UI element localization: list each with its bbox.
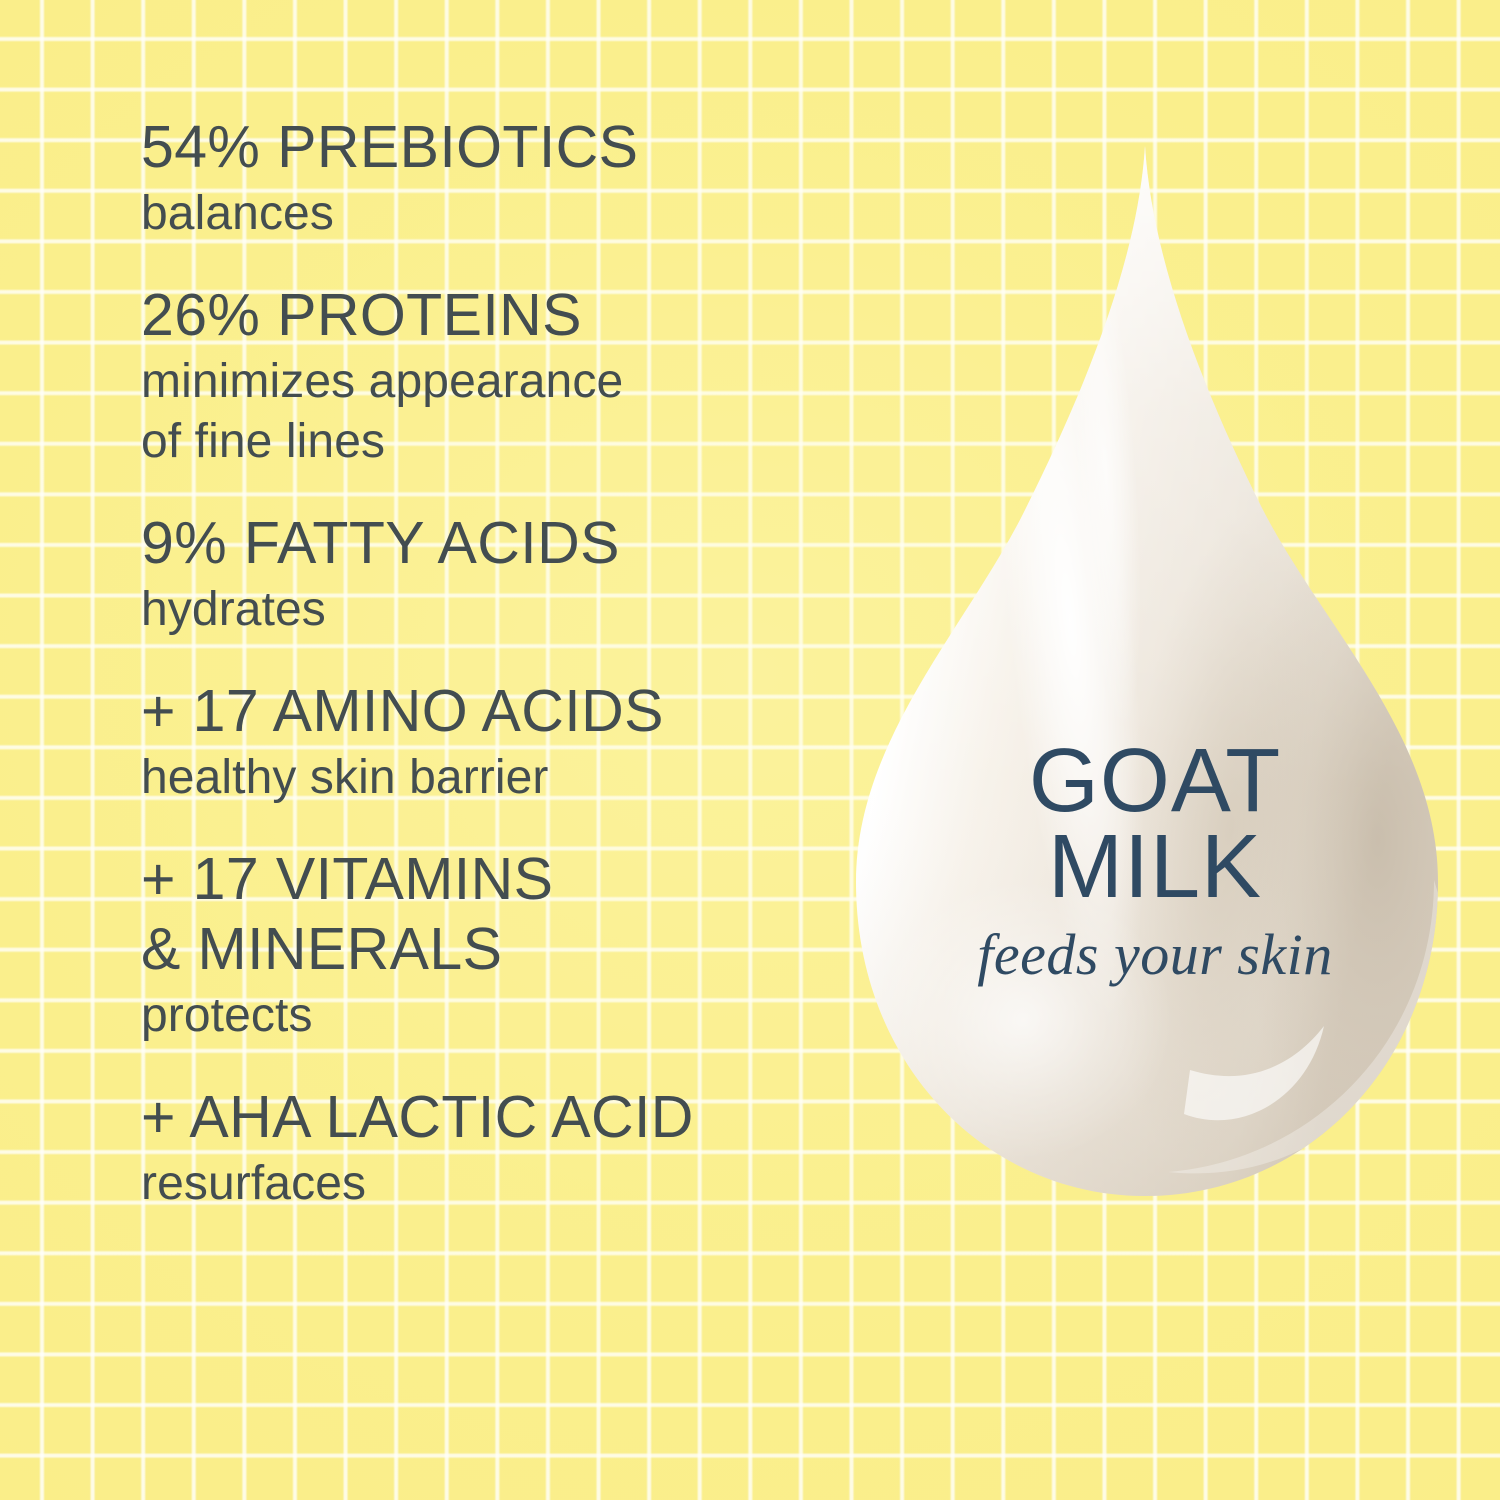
fact-headline: + 17 VITAMINS & MINERALS [141, 844, 861, 984]
fact-item-prebiotics: 54% PREBIOTICS balances [141, 112, 861, 244]
fact-headline: + 17 AMINO ACIDS [141, 676, 861, 746]
ingredient-fact-list: 54% PREBIOTICS balances 26% PROTEINS min… [141, 112, 861, 1214]
fact-headline: + AHA LACTIC ACID [141, 1082, 861, 1152]
goat-milk-infographic: 54% PREBIOTICS balances 26% PROTEINS min… [0, 0, 1500, 1500]
fact-item-aha-lactic-acid: + AHA LACTIC ACID resurfaces [141, 1082, 861, 1214]
fact-benefit: minimizes appearance of fine lines [141, 352, 861, 472]
fact-item-amino-acids: + 17 AMINO ACIDS healthy skin barrier [141, 676, 861, 808]
fact-item-vitamins-minerals: + 17 VITAMINS & MINERALS protects [141, 844, 861, 1046]
fact-benefit: balances [141, 184, 861, 244]
milk-droplet [838, 140, 1458, 1215]
milk-droplet-icon [838, 140, 1458, 1215]
droplet-bottom-left-bounce [873, 880, 1173, 1160]
fact-benefit: hydrates [141, 580, 861, 640]
fact-headline: 9% FATTY ACIDS [141, 508, 861, 578]
fact-headline: 26% PROTEINS [141, 280, 861, 350]
fact-headline: 54% PREBIOTICS [141, 112, 861, 182]
fact-item-proteins: 26% PROTEINS minimizes appearance of fin… [141, 280, 861, 472]
fact-item-fatty-acids: 9% FATTY ACIDS hydrates [141, 508, 861, 640]
fact-benefit: healthy skin barrier [141, 748, 861, 808]
fact-benefit: protects [141, 986, 861, 1046]
fact-benefit: resurfaces [141, 1154, 861, 1214]
